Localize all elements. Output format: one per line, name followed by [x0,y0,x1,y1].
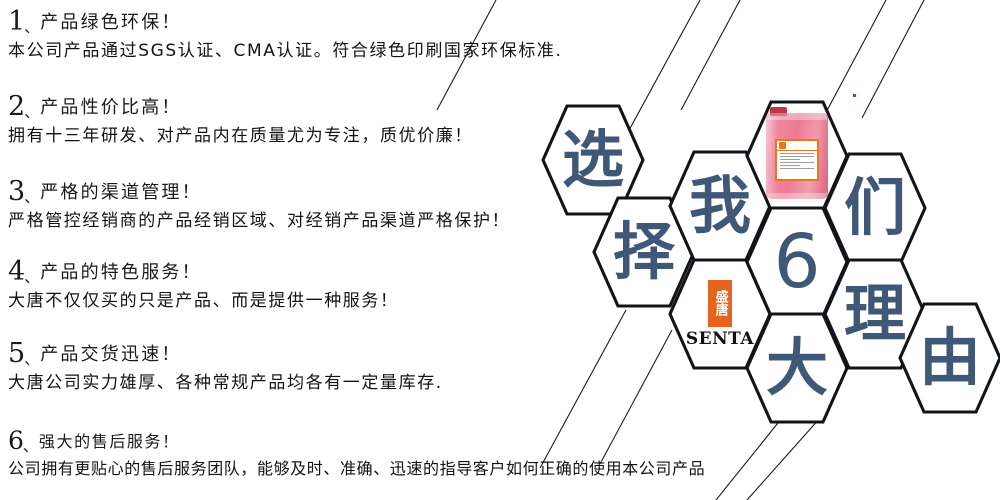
promo-banner: 1、产品绿色环保！ 本公司产品通过SGS认证、CMA认证。符合绿色印刷国家环保标… [0,0,1000,500]
hex-cell-men[interactable]: 们 [823,152,927,264]
hex-cell-you[interactable]: 由 [898,302,1000,414]
hexagon-cluster: 选 择 我 盛唐 SENTA [0,0,1000,500]
